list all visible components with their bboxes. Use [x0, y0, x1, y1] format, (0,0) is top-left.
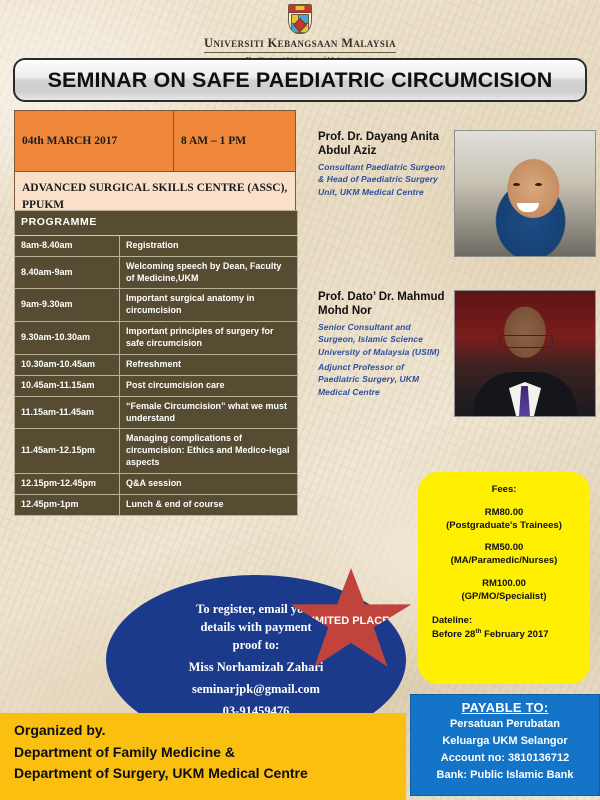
programme-activity: Important principles of surgery for safe… — [120, 322, 298, 355]
dateline-value: Before 28th February 2017 — [426, 627, 582, 641]
programme-time: 12.45pm-1pm — [15, 494, 120, 515]
table-row: 8am-8.40amRegistration — [15, 235, 298, 256]
speaker-photo-dayang-anita — [454, 130, 596, 257]
programme-time: 11.45am-12.15pm — [15, 429, 120, 474]
speaker-role: Senior Consultant and Surgeon, Islamic S… — [318, 321, 448, 358]
programme-activity: Welcoming speech by Dean, Faculty of Med… — [120, 256, 298, 289]
poster-title-banner: SEMINAR ON SAFE PAEDIATRIC CIRCUMCISION — [13, 58, 587, 102]
register-line-3: proof to: — [233, 636, 280, 654]
programme-activity: Refreshment — [120, 354, 298, 375]
event-date: 04th MARCH 2017 — [15, 111, 174, 172]
payable-bank: Bank: Public Islamic Bank — [415, 768, 595, 783]
programme-time: 8am-8.40am — [15, 235, 120, 256]
speaker-role: Consultant Paediatric Surgeon & Head of … — [318, 161, 448, 198]
speaker-name: Prof. Dato’ Dr. Mahmud Mohd Nor — [318, 290, 448, 318]
register-contact-name: Miss Norhamizah Zahari — [189, 658, 324, 676]
speaker-name: Prof. Dr. Dayang Anita Abdul Aziz — [318, 130, 448, 158]
programme-time: 10.45am-11.15am — [15, 375, 120, 396]
table-row: 9.30am-10.30amImportant principles of su… — [15, 322, 298, 355]
fees-heading: Fees: — [426, 484, 582, 497]
fee-category: (Postgraduate's Trainees) — [426, 520, 582, 533]
poster-canvas: Universiti Kebangsaan Malaysia The Natio… — [0, 0, 600, 800]
fee-category: (MA/Paramedic/Nurses) — [426, 555, 582, 568]
dateline-label: Dateline: — [426, 614, 582, 627]
table-row: 9am-9.30amImportant surgical anatomy in … — [15, 289, 298, 322]
organizer-banner: Organized by. Department of Family Medic… — [0, 713, 406, 800]
programme-activity: Lunch & end of course — [120, 494, 298, 515]
table-row: 12.15pm-12.45pmQ&A session — [15, 474, 298, 495]
table-row: 10.30am-10.45amRefreshment — [15, 354, 298, 375]
programme-time: 10.30am-10.45am — [15, 354, 120, 375]
university-name: Universiti Kebangsaan Malaysia — [204, 36, 396, 53]
fee-amount: RM100.00 — [426, 578, 582, 591]
event-time: 8 AM – 1 PM — [174, 111, 296, 172]
programme-time: 11.15am-11.45am — [15, 396, 120, 429]
programme-heading: PROGRAMME — [15, 211, 298, 236]
payable-account-no: Account no: 3810136712 — [415, 751, 595, 766]
organizer-line-3: Department of Surgery, UKM Medical Centr… — [14, 763, 406, 785]
table-row: 11.15am-11.45am“Female Circumcision” wha… — [15, 396, 298, 429]
programme-table: PROGRAMME 8am-8.40amRegistration8.40am-9… — [14, 210, 298, 516]
programme-activity: Post circumcision care — [120, 375, 298, 396]
speaker-photo-mahmud-mohd-nor — [454, 290, 596, 417]
speaker-role-secondary: Adjunct Professor of Paediatric Surgery,… — [318, 361, 448, 398]
payable-heading: PAYABLE TO: — [415, 700, 595, 715]
table-row: 10.45am-11.15amPost circumcision care — [15, 375, 298, 396]
fee-category: (GP/MO/Specialist) — [426, 591, 582, 604]
fee-amount: RM80.00 — [426, 507, 582, 520]
table-row: 12.45pm-1pmLunch & end of course — [15, 494, 298, 515]
programme-time: 12.15pm-12.45pm — [15, 474, 120, 495]
programme-activity: Registration — [120, 235, 298, 256]
ukm-crest-icon — [288, 4, 312, 34]
register-email[interactable]: seminarjpk@gmail.com — [192, 680, 320, 698]
fees-box: Fees: RM80.00 (Postgraduate's Trainees) … — [418, 472, 590, 684]
programme-time: 8.40am-9am — [15, 256, 120, 289]
table-row: 11.45am-12.15pmManaging complications of… — [15, 429, 298, 474]
payable-line-1: Persatuan Perubatan — [415, 717, 595, 732]
programme-activity: “Female Circumcision” what we must under… — [120, 396, 298, 429]
table-row: 8.40am-9amWelcoming speech by Dean, Facu… — [15, 256, 298, 289]
programme-activity: Managing complications of circumcision: … — [120, 429, 298, 474]
university-logo: Universiti Kebangsaan Malaysia The Natio… — [0, 4, 600, 64]
organizer-line-2: Department of Family Medicine & — [14, 742, 406, 764]
programme-activity: Important surgical anatomy in circumcisi… — [120, 289, 298, 322]
programme-time: 9.30am-10.30am — [15, 322, 120, 355]
payable-line-2: Keluarga UKM Selangor — [415, 734, 595, 749]
payable-box: PAYABLE TO: Persatuan Perubatan Keluarga… — [410, 694, 600, 796]
fee-amount: RM50.00 — [426, 542, 582, 555]
speaker-card-1: Prof. Dr. Dayang Anita Abdul Aziz Consul… — [318, 130, 598, 198]
programme-activity: Q&A session — [120, 474, 298, 495]
programme-time: 9am-9.30am — [15, 289, 120, 322]
register-line-2: details with payment — [200, 618, 311, 636]
event-details-table: 04th MARCH 2017 8 AM – 1 PM ADVANCED SUR… — [14, 110, 296, 224]
speaker-card-2: Prof. Dato’ Dr. Mahmud Mohd Nor Senior C… — [318, 290, 598, 398]
organizer-line-1: Organized by. — [14, 720, 406, 742]
page-title: SEMINAR ON SAFE PAEDIATRIC CIRCUMCISION — [48, 68, 553, 93]
